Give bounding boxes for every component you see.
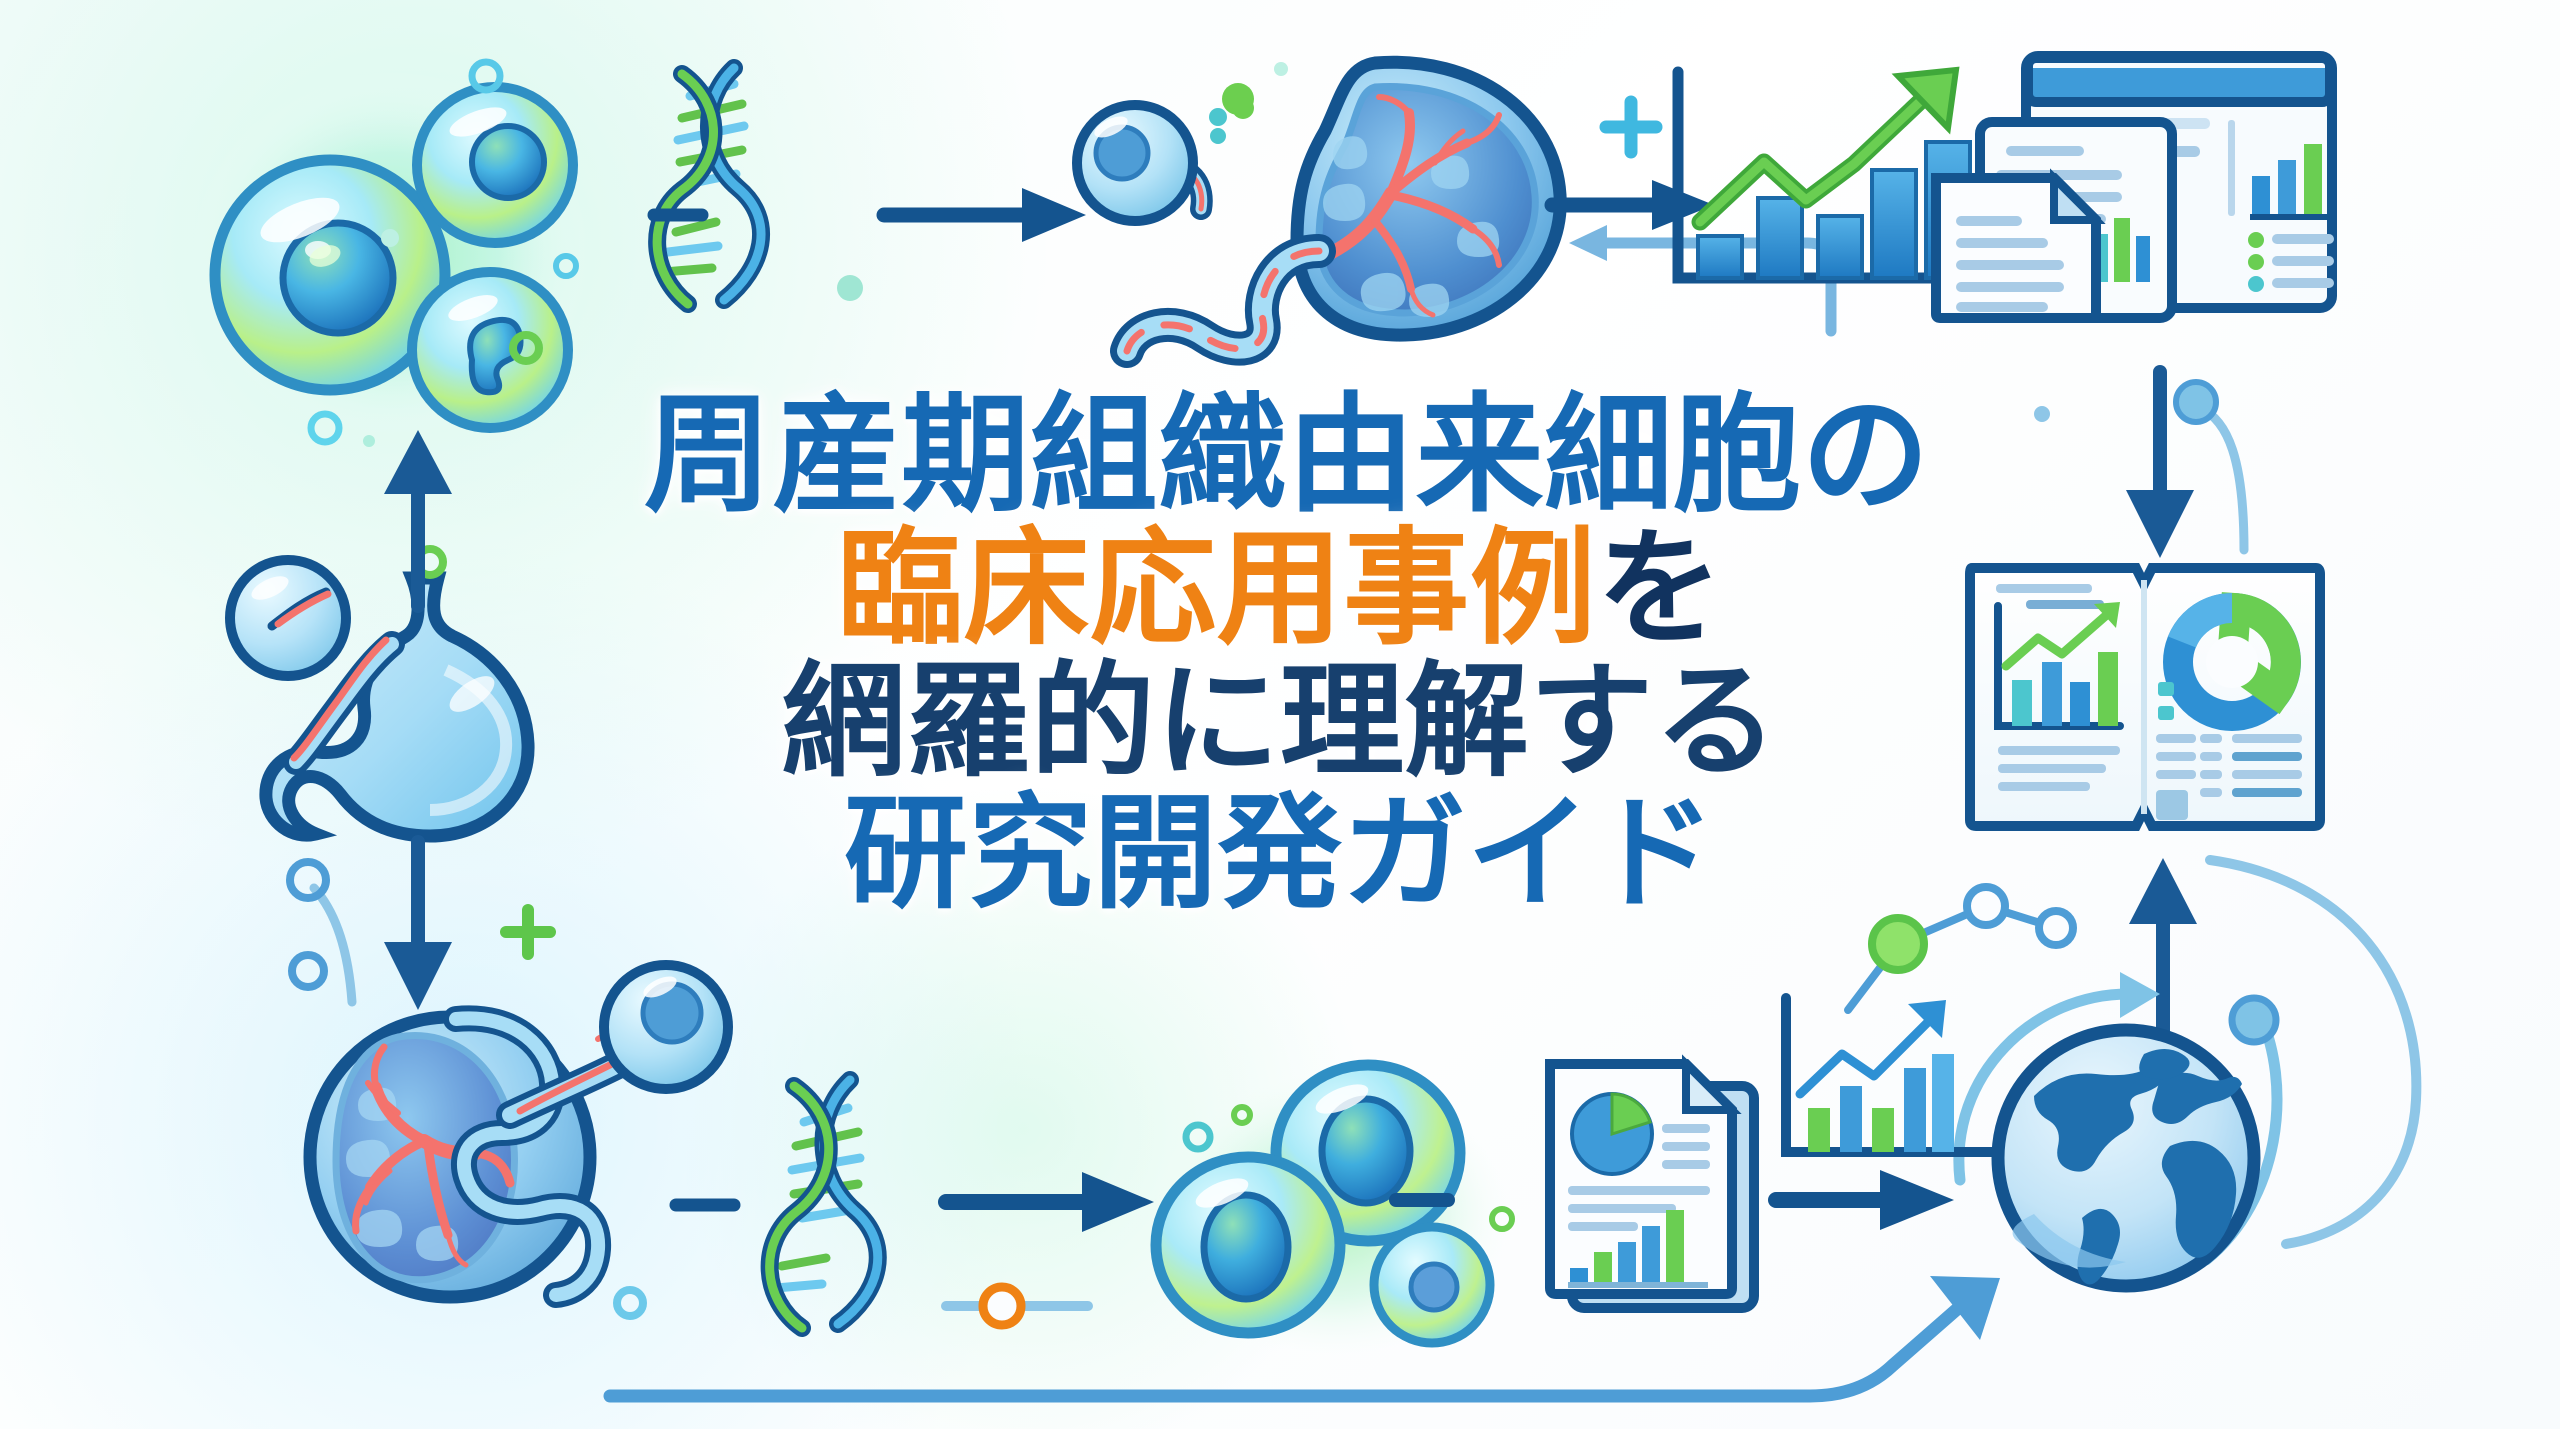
poster-canvas: 周産期組織由来細胞の 臨床応用事例を 網羅的に理解する 研究開発ガイド bbox=[0, 0, 2560, 1429]
decorative-dots bbox=[0, 0, 2560, 1429]
illustration-layer bbox=[0, 0, 2560, 1429]
